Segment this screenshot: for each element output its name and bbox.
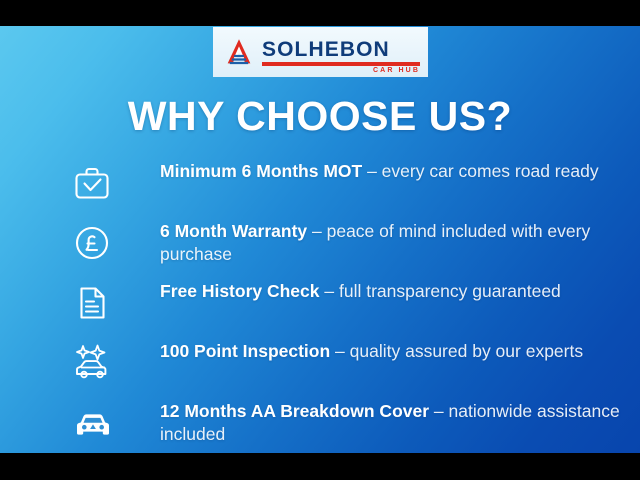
- triangle-a-mark-icon: [222, 35, 256, 69]
- benefit-text: 12 Months AA Breakdown Cover – nationwid…: [124, 399, 628, 446]
- promo-slide: SOLHEBON CAR HUB WHY CHOOSE US?: [0, 0, 640, 480]
- benefit-icon-slot: [72, 279, 124, 325]
- page-title: WHY CHOOSE US?: [0, 93, 640, 140]
- benefit-text: Free History Check – full transparency g…: [124, 279, 628, 303]
- benefit-lead: 12 Months AA Breakdown Cover: [160, 401, 429, 421]
- list-item: Free History Check – full transparency g…: [72, 279, 628, 339]
- brand-underbar: CAR HUB: [262, 62, 420, 66]
- benefit-icon-slot: [72, 339, 124, 385]
- list-item: 6 Month Warranty – peace of mind include…: [72, 219, 628, 279]
- list-item: 100 Point Inspection – quality assured b…: [72, 339, 628, 399]
- benefit-lead: 6 Month Warranty: [160, 221, 307, 241]
- benefit-rest: – quality assured by our experts: [330, 341, 583, 361]
- brand-wordmark-group: SOLHEBON CAR HUB: [262, 38, 420, 66]
- car-front-icon: [72, 403, 114, 443]
- slide-canvas: SOLHEBON CAR HUB WHY CHOOSE US?: [0, 26, 640, 453]
- sparkle-car-icon: [72, 343, 114, 383]
- brand-tagline: CAR HUB: [373, 67, 420, 75]
- benefit-icon-slot: [72, 159, 124, 205]
- letterbox-top: [0, 0, 640, 26]
- benefit-text: 6 Month Warranty – peace of mind include…: [124, 219, 628, 266]
- benefit-icon-slot: [72, 399, 124, 445]
- list-item: Minimum 6 Months MOT – every car comes r…: [72, 159, 628, 219]
- brand-name: SOLHEBON: [262, 39, 420, 60]
- briefcase-check-icon: [72, 163, 112, 203]
- benefit-rest: – every car comes road ready: [362, 161, 598, 181]
- benefit-rest: – full transparency guaranteed: [320, 281, 561, 301]
- benefit-text: 100 Point Inspection – quality assured b…: [124, 339, 628, 363]
- letterbox-bottom: [0, 453, 640, 480]
- pound-circle-icon: [72, 223, 112, 263]
- brand-logo: SOLHEBON CAR HUB: [213, 27, 428, 77]
- benefit-lead: Minimum 6 Months MOT: [160, 161, 362, 181]
- benefit-lead: Free History Check: [160, 281, 320, 301]
- document-lines-icon: [72, 283, 112, 323]
- list-item: 12 Months AA Breakdown Cover – nationwid…: [72, 399, 628, 453]
- benefit-text: Minimum 6 Months MOT – every car comes r…: [124, 159, 628, 183]
- benefit-icon-slot: [72, 219, 124, 265]
- benefit-lead: 100 Point Inspection: [160, 341, 330, 361]
- benefits-list: Minimum 6 Months MOT – every car comes r…: [72, 159, 628, 453]
